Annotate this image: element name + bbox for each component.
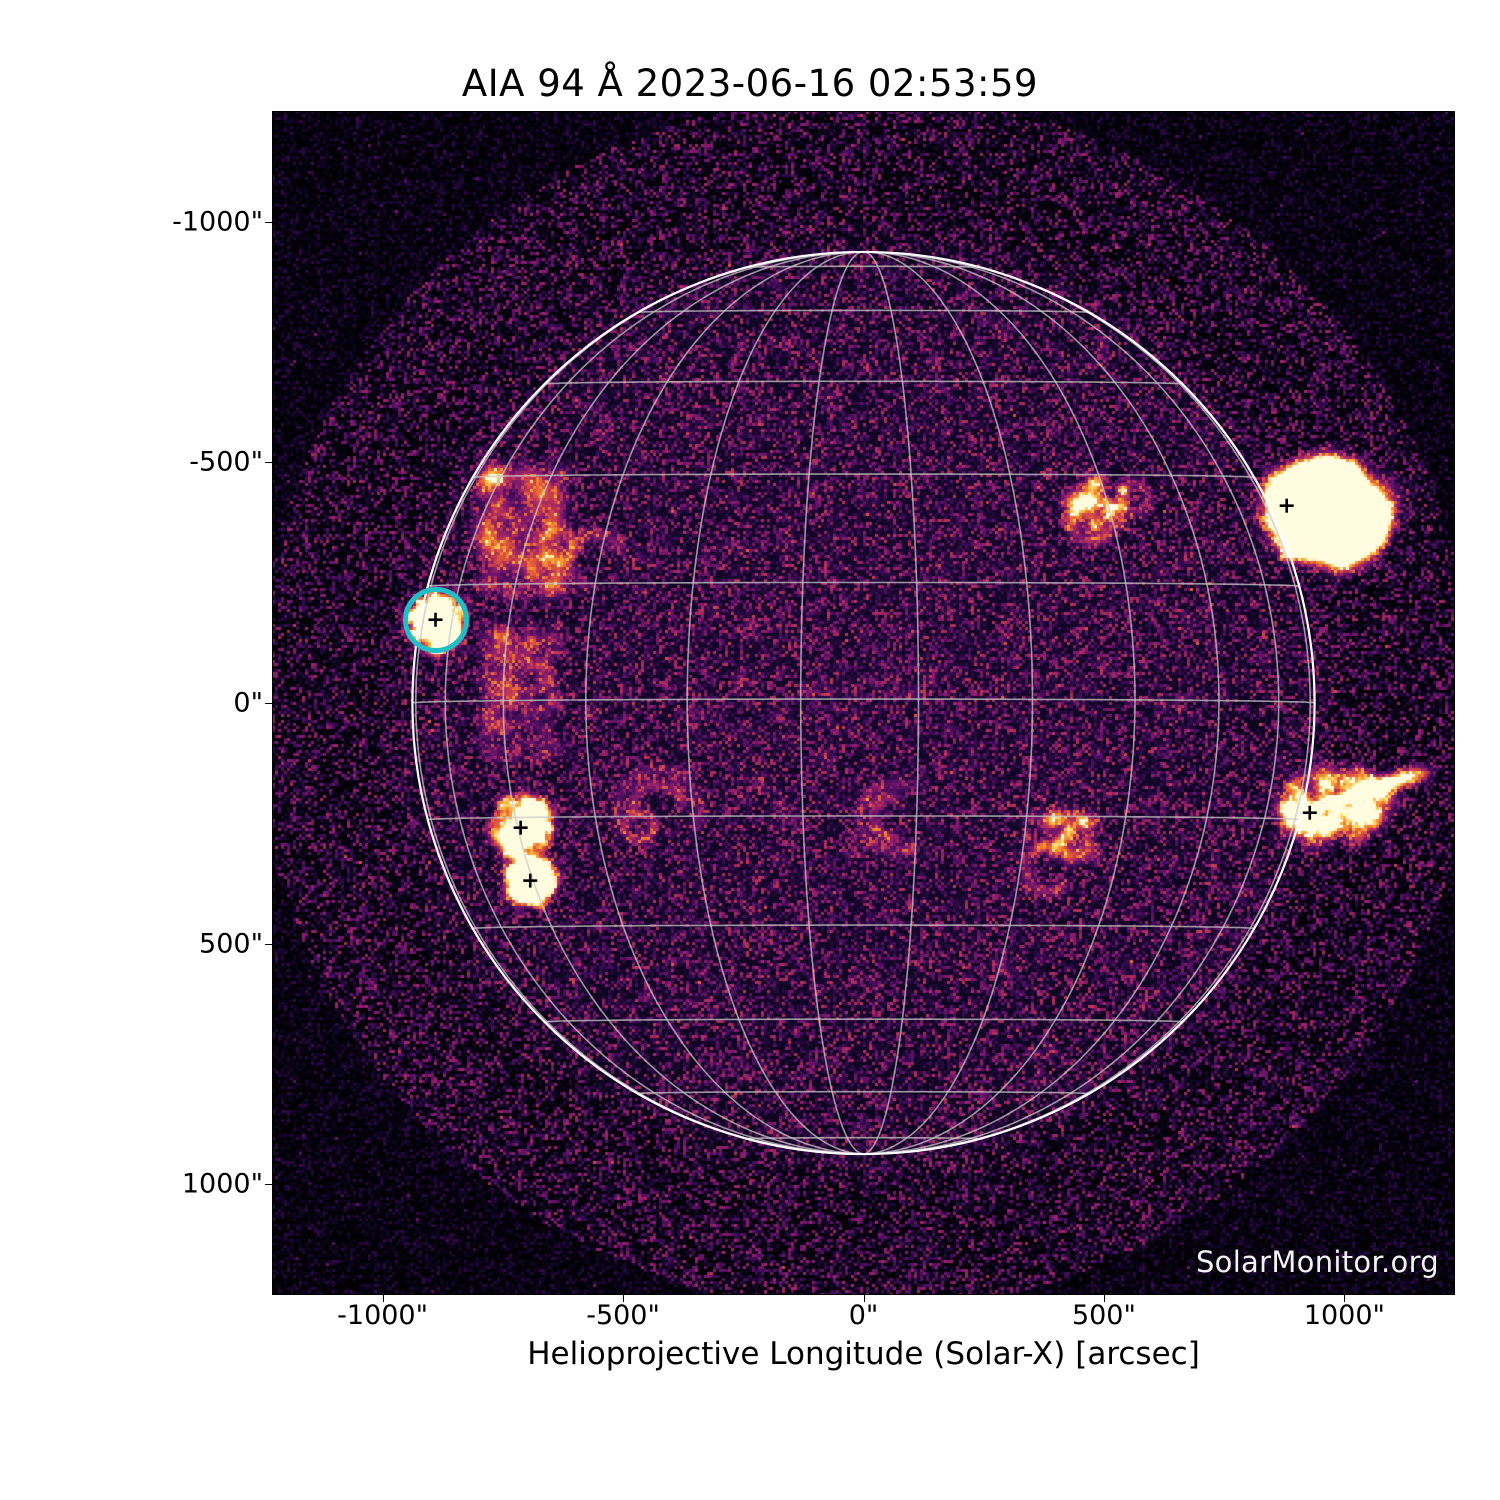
solar-image-figure: AIA 94 Å 2023-06-16 02:53:59 SolarMonito…: [0, 0, 1500, 1500]
y-tick-mark: [265, 222, 272, 223]
y-tick-mark: [265, 944, 272, 945]
grid-line: [413, 699, 1315, 703]
active-region-plus-marker: [514, 821, 528, 835]
x-axis-label: Helioprojective Longitude (Solar-X) [arc…: [272, 1336, 1455, 1372]
active-region-plus-marker: [1303, 806, 1317, 820]
x-tick-label: 0": [849, 1300, 879, 1331]
y-tick-label: -500": [189, 447, 263, 478]
grid-line: [428, 583, 1299, 587]
y-tick-label: 0": [233, 688, 263, 719]
y-tick-label: 1000": [182, 1169, 263, 1200]
grid-line: [428, 816, 1299, 820]
x-tick-label: -500": [586, 1300, 660, 1331]
y-tick-mark: [265, 1184, 272, 1185]
grid-line: [638, 310, 1089, 312]
y-tick-label: 500": [199, 928, 263, 959]
y-tick-label: -1000": [172, 206, 263, 237]
grid-line: [473, 474, 1254, 477]
x-tick-label: -1000": [337, 1300, 428, 1331]
grid-line: [545, 381, 1183, 384]
grid-line: [545, 1019, 1183, 1022]
grid-line: [473, 925, 1254, 928]
figure-title: AIA 94 Å 2023-06-16 02:53:59: [0, 62, 1500, 105]
x-tick-label: 500": [1072, 1300, 1136, 1331]
y-tick-mark: [265, 703, 272, 704]
heliographic-grid-overlay: [272, 111, 1455, 1295]
grid-line: [747, 1138, 980, 1139]
y-tick-mark: [265, 462, 272, 463]
grid-line: [638, 1092, 1089, 1094]
figure-title-text: AIA 94 Å 2023-06-16 02:53:59: [462, 62, 1038, 105]
active-region-plus-marker: [1280, 499, 1294, 513]
x-tick-label: 1000": [1304, 1300, 1385, 1331]
active-region-marker-circle[interactable]: [403, 587, 469, 653]
solar-image-plot-area[interactable]: SolarMonitor.org: [272, 111, 1455, 1295]
grid-line: [747, 266, 980, 267]
watermark-solarmonitor: SolarMonitor.org: [1196, 1245, 1439, 1279]
